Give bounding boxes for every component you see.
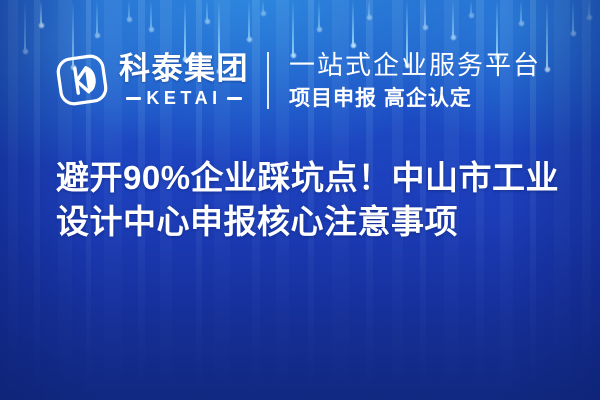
brand-logo: 科泰集团 KETAI — [54, 52, 249, 108]
brand-wordmark: 科泰集团 KETAI — [119, 53, 249, 107]
ketai-diamond-kd-logo-icon — [54, 52, 110, 108]
title-line-2: 设计中心申报核心注意事项 — [56, 200, 576, 244]
title-line-1: 避开90%企业踩坑点！中山市工业 — [56, 156, 576, 200]
banner-header: 科泰集团 KETAI 一站式企业服务平台 项目申报 高企认定 — [54, 42, 554, 118]
slogan-main: 一站式企业服务平台 — [289, 50, 541, 80]
brand-name-en: KETAI — [146, 89, 221, 107]
dash-left-icon — [126, 97, 141, 100]
brand-name-en-row: KETAI — [126, 89, 241, 107]
promo-banner: 科泰集团 KETAI 一站式企业服务平台 项目申报 高企认定 避开90%企业踩坑… — [0, 0, 600, 400]
header-slogan: 一站式企业服务平台 项目申报 高企认定 — [289, 50, 541, 109]
brand-name-cn: 科泰集团 — [119, 53, 249, 84]
slogan-sub: 项目申报 高企认定 — [289, 87, 541, 110]
dash-right-icon — [227, 97, 242, 100]
page-title: 避开90%企业踩坑点！中山市工业 设计中心申报核心注意事项 — [56, 156, 576, 244]
header-divider — [267, 52, 269, 109]
